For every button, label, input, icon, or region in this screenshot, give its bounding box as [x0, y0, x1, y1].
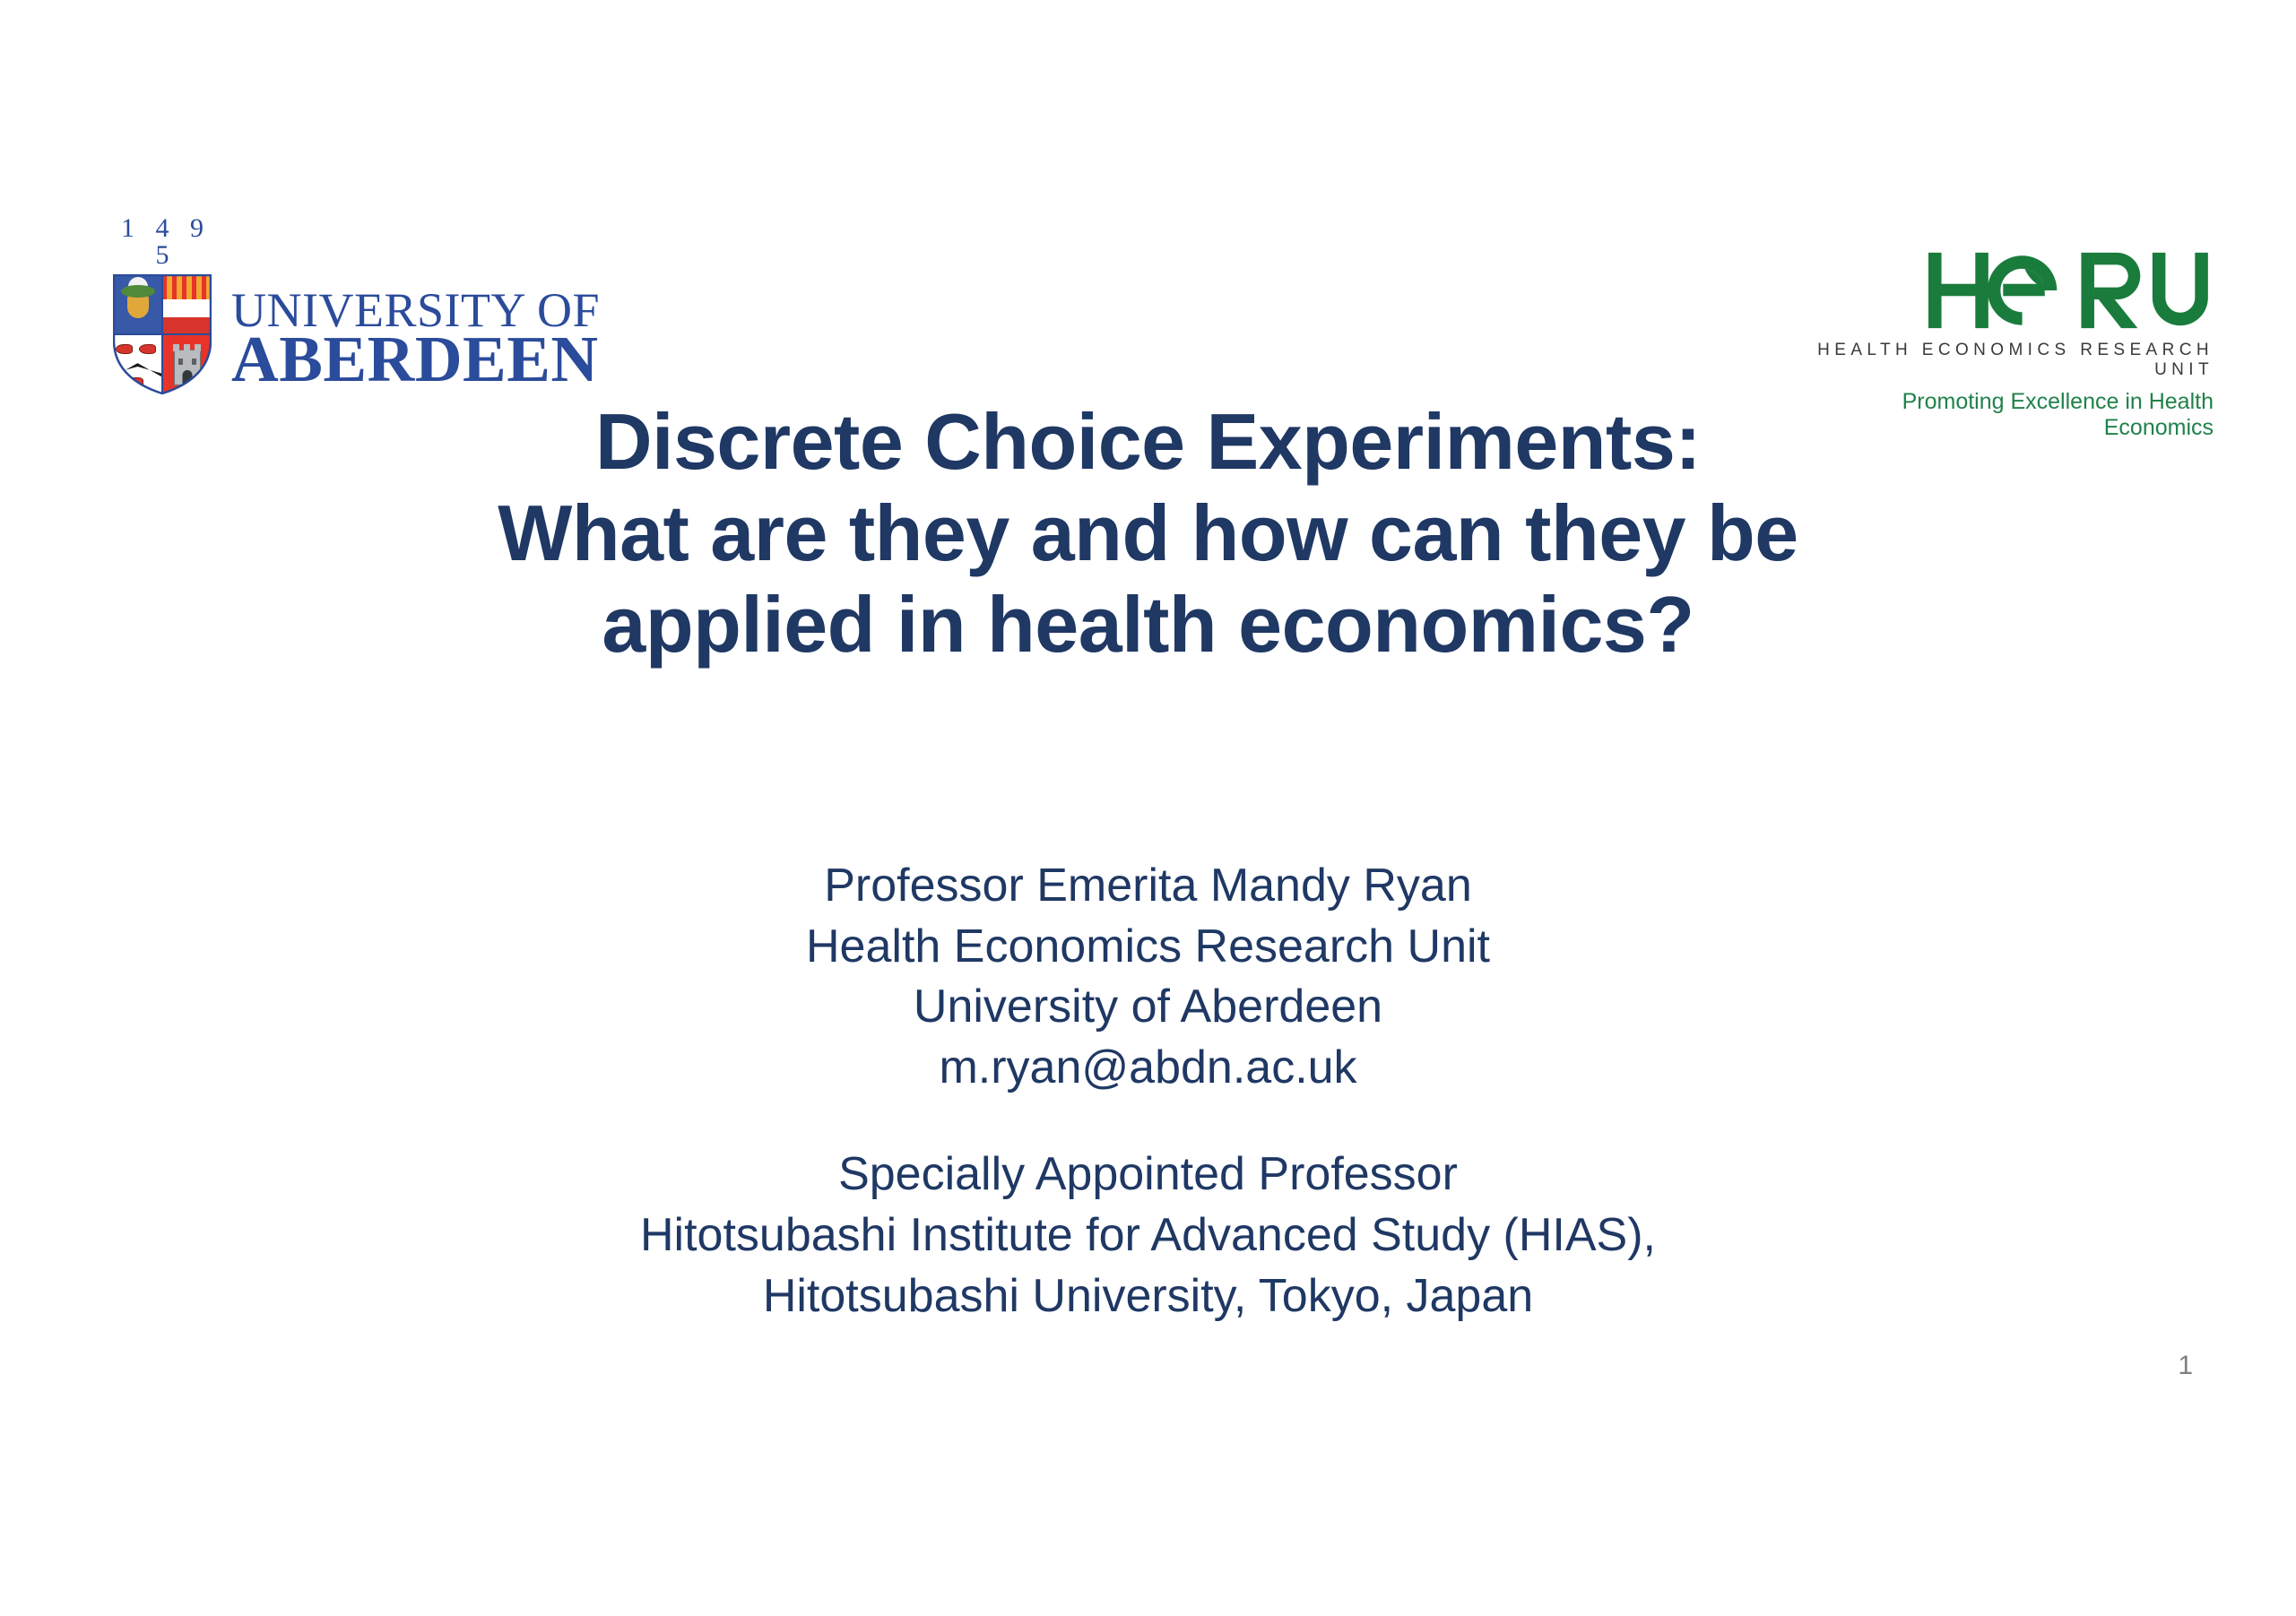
boar-head-icon [116, 344, 133, 354]
author-affiliation-unit: Health Economics Research Unit [134, 917, 2162, 978]
title-line-3: applied in health economics? [134, 579, 2162, 670]
pales-icon [162, 274, 212, 299]
shield-quarter-top-left [113, 274, 162, 334]
author-secondary-institute: Hitotsubashi Institute for Advanced Stud… [134, 1206, 2162, 1266]
author-secondary-university: Hitotsubashi University, Tokyo, Japan [134, 1266, 2162, 1327]
aberdeen-wordmark: UNIVERSITY OF ABERDEEN [231, 288, 600, 394]
slide-title: Discrete Choice Experiments: What are th… [0, 396, 2296, 670]
shield-quarter-bottom-left [113, 334, 162, 394]
fess-icon [162, 299, 212, 317]
university-of-aberdeen-logo: 1 4 9 5 [109, 215, 600, 394]
page-number: 1 [2178, 1351, 2193, 1381]
aberdeen-shield-icon [113, 274, 212, 394]
author-email: m.ryan@abdn.ac.uk [134, 1038, 2162, 1099]
boar-head-icon [139, 344, 156, 354]
affiliation-spacer [134, 1098, 2162, 1145]
author-affiliation-university: University of Aberdeen [134, 977, 2162, 1038]
shield-quarter-bottom-right [162, 334, 212, 394]
author-affiliation-block: Professor Emerita Mandy Ryan Health Econ… [0, 856, 2296, 1327]
author-name: Professor Emerita Mandy Ryan [134, 856, 2162, 917]
vase-icon [127, 295, 149, 318]
author-secondary-title: Specially Appointed Professor [134, 1145, 2162, 1206]
founding-year-label: 1 4 9 5 [109, 215, 215, 269]
boar-head-icon [126, 377, 143, 387]
heru-wordmark-icon [1928, 249, 2215, 332]
title-line-1: Discrete Choice Experiments: [134, 396, 2162, 488]
aberdeen-crest: 1 4 9 5 [109, 215, 215, 394]
chevron-icon [113, 363, 165, 378]
wordmark-aberdeen: ABERDEEN [231, 329, 600, 391]
shield-quarter-top-right [162, 274, 212, 334]
heru-tagline-primary: HEALTH ECONOMICS RESEARCH UNIT [1794, 341, 2215, 380]
title-line-2: What are they and how can they be [134, 488, 2162, 579]
title-slide: 1 4 9 5 [0, 0, 2296, 1616]
castle-tower-icon [174, 350, 201, 385]
